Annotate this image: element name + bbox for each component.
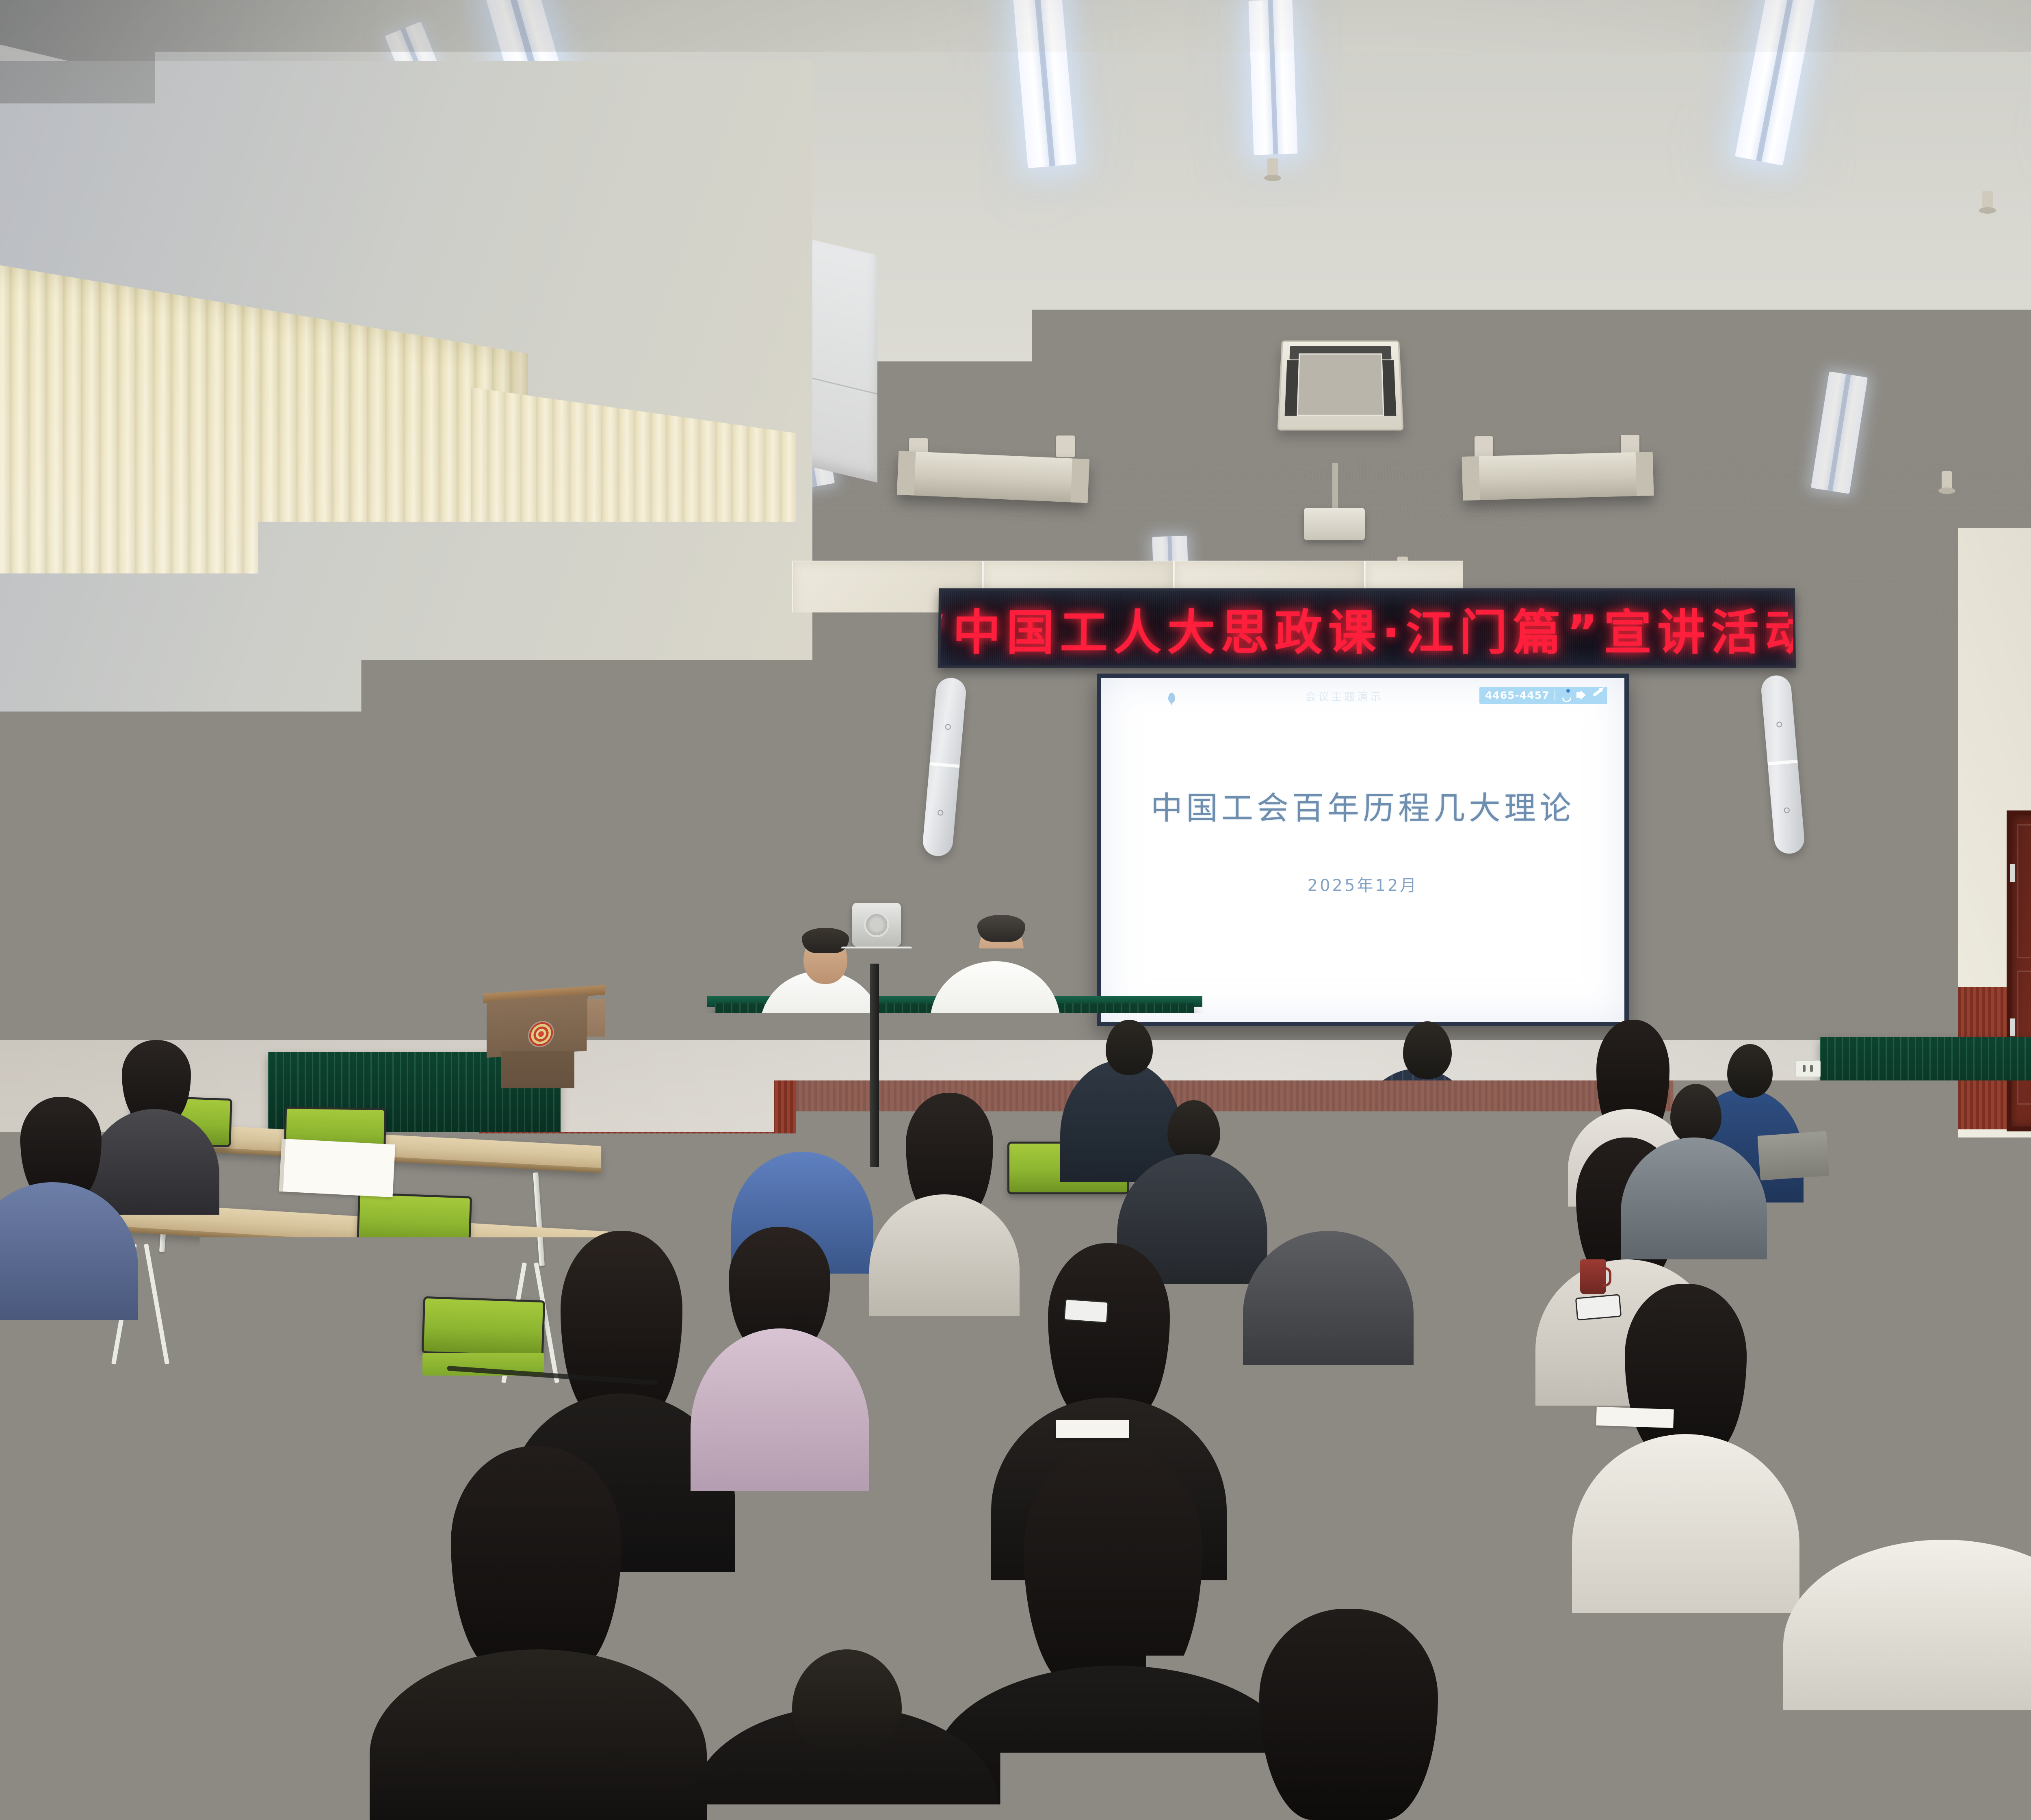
wall-outlet-left[interactable] [723,1093,747,1109]
projector-mount-rod [1332,463,1338,512]
presenter-laptop-screen[interactable] [892,979,977,1032]
speaker-box-cap-right [1070,458,1089,503]
paper-on-desk-1[interactable] [1340,1183,1414,1205]
pen-icon[interactable] [1591,690,1602,701]
slide-date: 2025年12月 [1101,872,1624,896]
attendee-hair [65,1629,252,1820]
slide-room-id: 4465-4457 [1485,689,1550,701]
paper-on-desk-2[interactable] [1596,1407,1674,1428]
attendee-laptop-screen[interactable] [1757,1131,1829,1181]
ceiling-light-2 [1011,0,1077,168]
ceiling-light-3 [1248,0,1297,155]
door-panel-top-left [2017,824,2031,958]
presenter-laptop-base[interactable] [886,1031,983,1040]
mug-red[interactable] [1580,1259,1606,1294]
attendee-hair [1024,1446,1202,1690]
mug-white[interactable] [1454,1167,1478,1198]
door-hinge-top [2010,864,2015,882]
ac-side-vent-right [1382,360,1397,416]
union-emblem-icon [529,1020,553,1047]
slide-watermark-text: 会议主题演示 [1305,689,1383,704]
wall-outlet-right[interactable] [1795,1060,1821,1077]
notebook-left[interactable] [279,1139,395,1197]
camera-base-body [841,947,912,965]
podium-front-face [487,994,588,1057]
ceiling-speaker-box-right [1462,452,1654,500]
camera-lens [864,912,889,937]
location-pin-icon [1168,693,1175,703]
speaker-screw-left-top [945,724,951,730]
phone-on-desk-1[interactable] [1575,1294,1622,1320]
sprinkler-head-1 [1267,158,1278,177]
podium-base [501,1051,574,1140]
speaker-box-cap-right-a [1462,456,1480,500]
projection-screen-frame: 会议主题演示 4465-4457 中国工会百年历程几大理论 2025年12月 [1097,674,1629,1026]
podium-side-face [587,999,605,1058]
led-banner: “中国工人大思政课·江门篇”宣讲活动 [938,588,1796,668]
led-banner-text: “中国工人大思政课·江门篇”宣讲活动 [938,594,1796,663]
speaker-screw-right-top [1776,721,1782,728]
tissue-box [747,1026,781,1047]
hanging-clamp-right-a [1475,436,1493,458]
desk-row-c-mid [886,1422,1641,1459]
ac-side-vent-left [1284,360,1299,416]
chair-empty-4[interactable] [422,1296,546,1357]
attendee-hair [561,1231,682,1418]
phone-on-desk-2[interactable] [1063,1298,1109,1323]
door-hinge-bottom [2010,1018,2015,1036]
microphone-icon[interactable] [1560,690,1571,701]
camera-tripod-pole [870,964,879,1167]
ac-grille [1297,353,1384,416]
attendee-hair [1259,1609,1438,1820]
slide-toolbar[interactable]: 4465-4457 [1479,687,1607,704]
speaker-box-cap-left [897,451,916,496]
ceiling-speaker-box-left [897,451,1089,503]
sprinkler-head-2 [1982,191,1993,210]
curtain-gap-light [249,572,259,939]
slide-title: 中国工会百年历程几大理论 [1101,783,1624,828]
speaker-screw-left-bottom [938,810,944,816]
lecture-hall-photo: 江门市总工会 职工之家 “中国工人大思政课·江门篇”宣讲活动 [0,0,2031,1820]
podium [483,989,605,1140]
sprinkler-head-3 [1942,471,1952,490]
projection-screen[interactable]: 会议主题演示 4465-4457 中国工会百年历程几大理论 2025年12月 [1101,678,1624,1022]
speaker-seam-right [1767,760,1797,765]
attendee-hair [1283,1113,1380,1247]
paper-on-desk-4[interactable] [1056,1420,1129,1438]
ceiling-air-conditioner [1277,340,1404,430]
attendee-hair [1625,1284,1747,1454]
speaker-seam-left [929,762,959,768]
speaker-box-cap-right-b [1636,452,1654,496]
paper-on-desk-3[interactable] [1909,1372,1991,1394]
ceiling-light-4 [1735,0,1815,166]
presenter-speaker-hair [977,915,1025,942]
speaker-icon[interactable] [1576,690,1586,701]
camera-head [852,903,901,947]
hanging-clamp-left-b [1056,435,1075,457]
attendee-hair [1048,1243,1170,1418]
attendee-hair [451,1446,621,1674]
toolbar-divider [1555,691,1555,700]
chair-empty-3[interactable] [357,1192,472,1249]
speaker-screw-right-bottom [1784,807,1790,813]
hanging-rod-right-a [1483,408,1487,441]
ceiling-projector [1304,508,1365,540]
